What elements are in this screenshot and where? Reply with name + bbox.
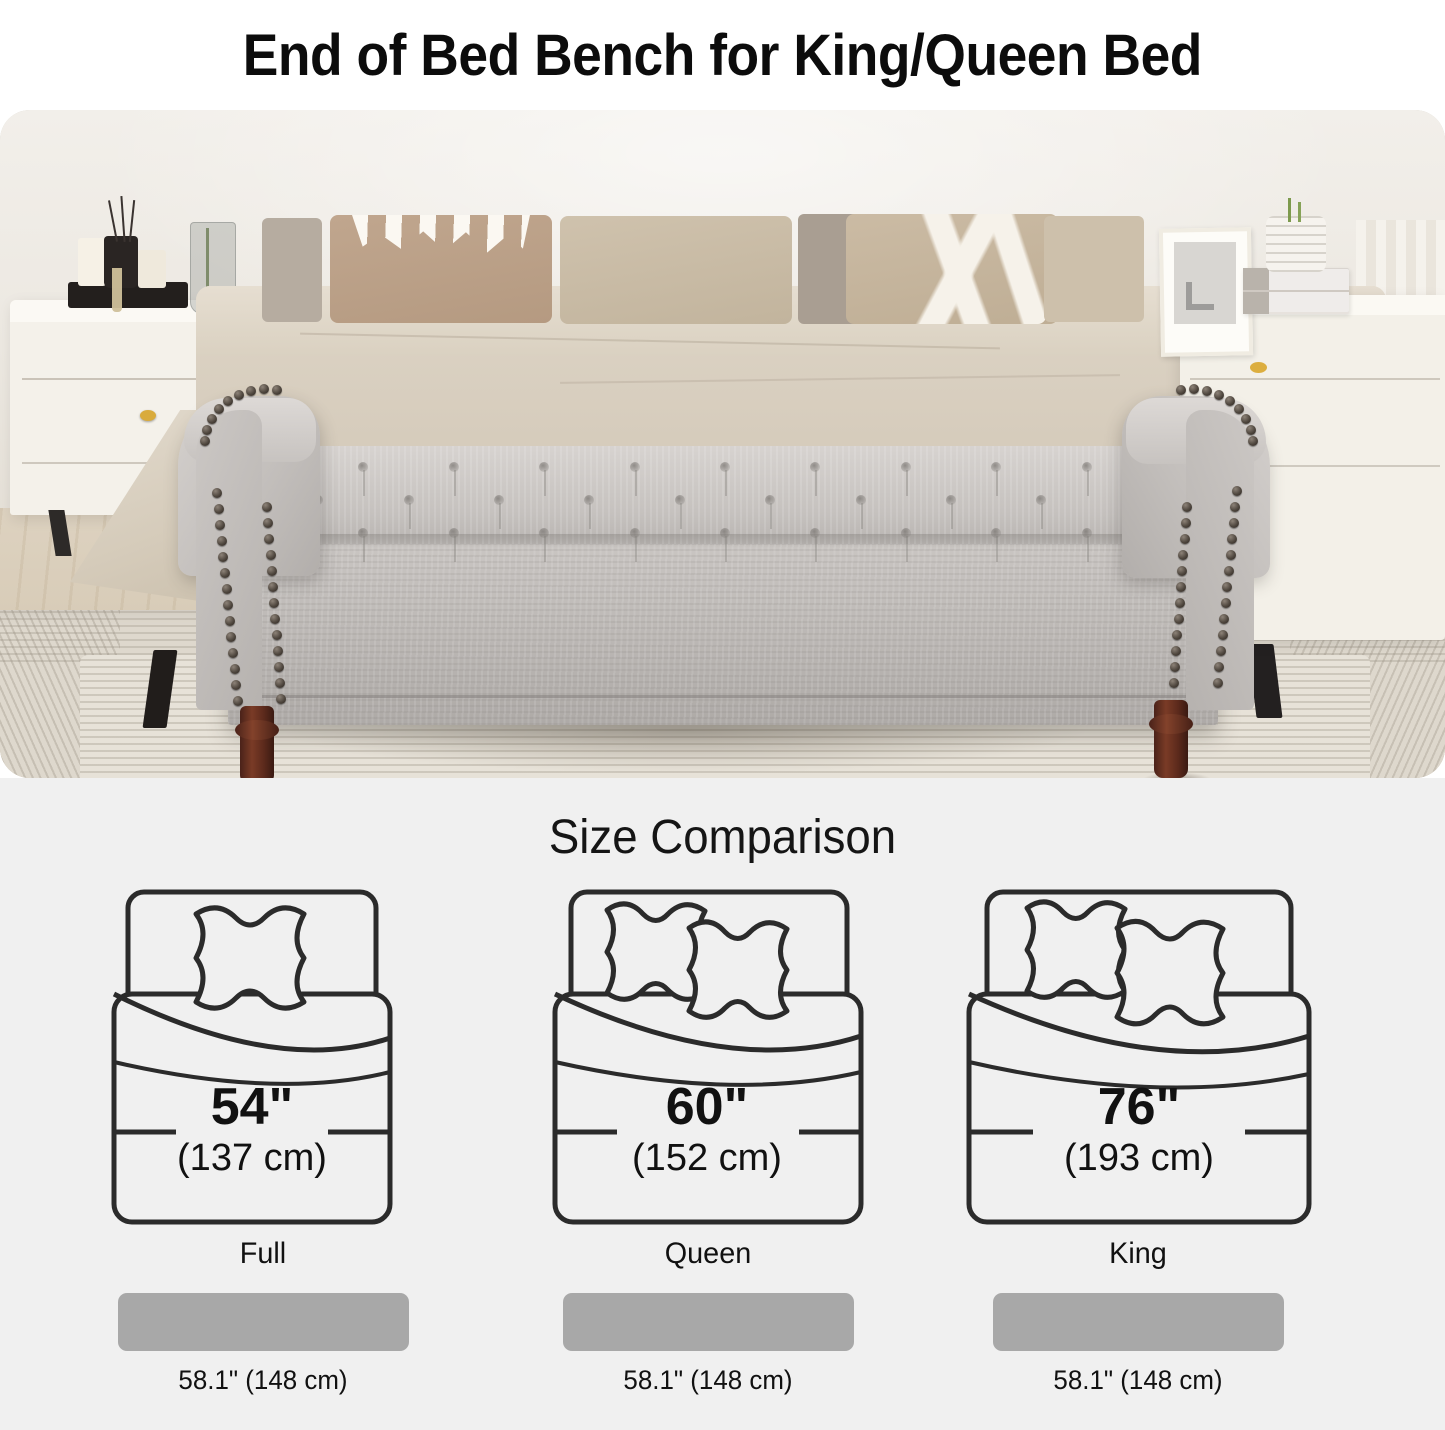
size-comparison-section: Size Comparison 54" (137 cm) Full 58.1" <box>0 778 1445 1430</box>
right-nightstand-drawer-seam <box>1190 378 1440 380</box>
nailhead-stud <box>1218 630 1228 640</box>
bench-tuft-seam <box>906 470 908 496</box>
hero-product-photo <box>0 110 1445 778</box>
bed-pillow-back-left <box>262 218 322 322</box>
size-column-queen: 60" (152 cm) Queen 58.1" (148 cm) <box>493 886 923 1396</box>
nailhead-stud <box>1232 486 1242 496</box>
dimension-cm-king: (193 cm) <box>1064 1137 1214 1179</box>
decor-tassel <box>112 268 122 312</box>
decor-picture-mark <box>1186 282 1214 310</box>
bench-tuft-seam <box>1087 536 1089 562</box>
nailhead-stud <box>266 550 276 560</box>
dimension-inches-king: 76" <box>1097 1078 1180 1136</box>
bed-diagram-queen: 60" (152 cm) <box>543 886 873 1231</box>
nailhead-stud <box>225 616 235 626</box>
nailhead-stud <box>1216 646 1226 656</box>
decor-greenery-1 <box>1288 198 1291 222</box>
nailhead-stud <box>272 385 282 395</box>
nailhead-stud <box>1169 678 1179 688</box>
title-bar: End of Bed Bench for King/Queen Bed <box>0 0 1445 110</box>
bench-bar-queen <box>563 1293 854 1351</box>
bench-tuft-seam <box>499 503 501 529</box>
nailhead-stud <box>1174 614 1184 624</box>
nailhead-stud <box>1229 518 1239 528</box>
bench-leg-right <box>1154 700 1188 778</box>
page-title: End of Bed Bench for King/Queen Bed <box>243 22 1202 89</box>
bench-bar-king <box>993 1293 1284 1351</box>
throw-pillow-plain-center <box>560 216 792 324</box>
bench-tuft-seam <box>725 470 727 496</box>
bench-arm-left-face <box>196 410 262 710</box>
dimension-inches-full: 54" <box>211 1078 294 1136</box>
nailhead-stud <box>268 582 278 592</box>
nailhead-stud <box>233 696 243 706</box>
size-comparison-columns: 54" (137 cm) Full 58.1" (148 cm) <box>0 886 1445 1430</box>
nailhead-stud <box>234 390 244 400</box>
nailhead-stud <box>272 630 282 640</box>
bench-tuft-seam <box>680 503 682 529</box>
nailhead-stud <box>1214 390 1224 400</box>
bench-tuft-seam <box>409 503 411 529</box>
bench-bar-caption-king: 58.1" (148 cm) <box>932 1365 1345 1396</box>
bed-label-full: Full <box>57 1237 470 1271</box>
bench-tuft-seam <box>996 470 998 496</box>
decor-greenery-2 <box>1298 202 1301 222</box>
nailhead-stud <box>1225 396 1235 406</box>
nailhead-stud <box>220 568 230 578</box>
bench-lid-seam <box>230 695 1216 698</box>
bench-tuft-seam <box>454 470 456 496</box>
bench-tuft-seam <box>363 470 365 496</box>
nailhead-stud <box>1182 502 1192 512</box>
pillow-full-1 <box>196 908 304 1008</box>
nailhead-stud <box>274 662 284 672</box>
bench-tuft-seam <box>454 536 456 562</box>
decor-book-seam <box>1243 290 1349 292</box>
bench-tuft-seam <box>861 503 863 529</box>
bench-tuft-seam <box>906 536 908 562</box>
bench-tuft-seam <box>725 536 727 562</box>
nailhead-stud <box>267 566 277 576</box>
right-nightstand-knob <box>1250 362 1267 373</box>
nailhead-stud <box>214 504 224 514</box>
dimension-inches-queen: 60" <box>666 1078 749 1136</box>
nailhead-stud <box>1226 550 1236 560</box>
bed-diagram-king: 76" (193 cm) <box>961 886 1316 1231</box>
bed-label-king: King <box>932 1237 1345 1271</box>
bed-pillow-back-right <box>1044 216 1144 322</box>
bench-bar-full <box>118 1293 409 1351</box>
size-column-king: 76" (193 cm) King 58.1" (148 cm) <box>923 886 1353 1396</box>
bench-tuft-seam <box>635 470 637 496</box>
decor-candle-1 <box>78 238 106 286</box>
size-column-full: 54" (137 cm) Full 58.1" (148 cm) <box>48 886 478 1396</box>
bed-diagram-full: 54" (137 cm) <box>98 886 428 1231</box>
nailhead-stud <box>230 664 240 674</box>
nailhead-stud <box>1180 534 1190 544</box>
bench-tuft-seam <box>815 536 817 562</box>
left-nightstand-knob <box>140 410 156 421</box>
nailhead-stud <box>217 536 227 546</box>
nailhead-stud <box>1176 582 1186 592</box>
pillow-queen-1 <box>607 904 705 999</box>
bench-tuft-seam <box>815 470 817 496</box>
decor-ribbed-vase <box>1266 216 1326 272</box>
bench-tuft-seam <box>1087 470 1089 496</box>
nailhead-stud <box>262 502 272 512</box>
bench-tuft-seam <box>951 503 953 529</box>
nailhead-stud <box>212 488 222 498</box>
pillow-king-2 <box>1117 921 1223 1023</box>
nailhead-stud <box>1175 598 1185 608</box>
bench-tuft-seam <box>544 470 546 496</box>
nailhead-stud <box>1202 386 1212 396</box>
bed-label-queen: Queen <box>502 1237 915 1271</box>
bench-tuft-seam <box>544 536 546 562</box>
bench-tuft-seam <box>589 503 591 529</box>
pillow-king-1 <box>1027 902 1125 997</box>
nailhead-stud <box>1224 566 1234 576</box>
nailhead-stud <box>246 386 256 396</box>
throw-pillow-right-pattern <box>862 214 1046 324</box>
nailhead-stud <box>259 384 269 394</box>
nailhead-stud <box>222 584 232 594</box>
dimension-cm-queen: (152 cm) <box>632 1137 782 1179</box>
nailhead-stud <box>1221 598 1231 608</box>
bench-tuft-seam <box>996 536 998 562</box>
size-comparison-title: Size Comparison <box>36 810 1409 865</box>
bench-tuft-seam <box>770 503 772 529</box>
dimension-cm-full: (137 cm) <box>177 1137 327 1179</box>
decor-candle-2 <box>138 250 166 288</box>
bench-tuft-seam <box>635 536 637 562</box>
nailhead-stud <box>1176 385 1186 395</box>
nailhead-stud <box>1170 662 1180 672</box>
bench-tuft-seam <box>363 536 365 562</box>
bench-bar-caption-full: 58.1" (148 cm) <box>57 1365 470 1396</box>
bench-seat-lip <box>236 534 1204 548</box>
nailhead-stud <box>1213 678 1223 688</box>
pillow-queen-2 <box>689 922 787 1017</box>
nailhead-stud <box>273 646 283 656</box>
product-infographic: End of Bed Bench for King/Queen Bed <box>0 0 1445 1430</box>
nailhead-stud <box>228 648 238 658</box>
bench-bar-caption-queen: 58.1" (148 cm) <box>502 1365 915 1396</box>
bench-leg-left <box>240 706 274 778</box>
nailhead-stud <box>1181 518 1191 528</box>
nailhead-stud <box>1246 425 1256 435</box>
bench-tuft-seam <box>1041 503 1043 529</box>
